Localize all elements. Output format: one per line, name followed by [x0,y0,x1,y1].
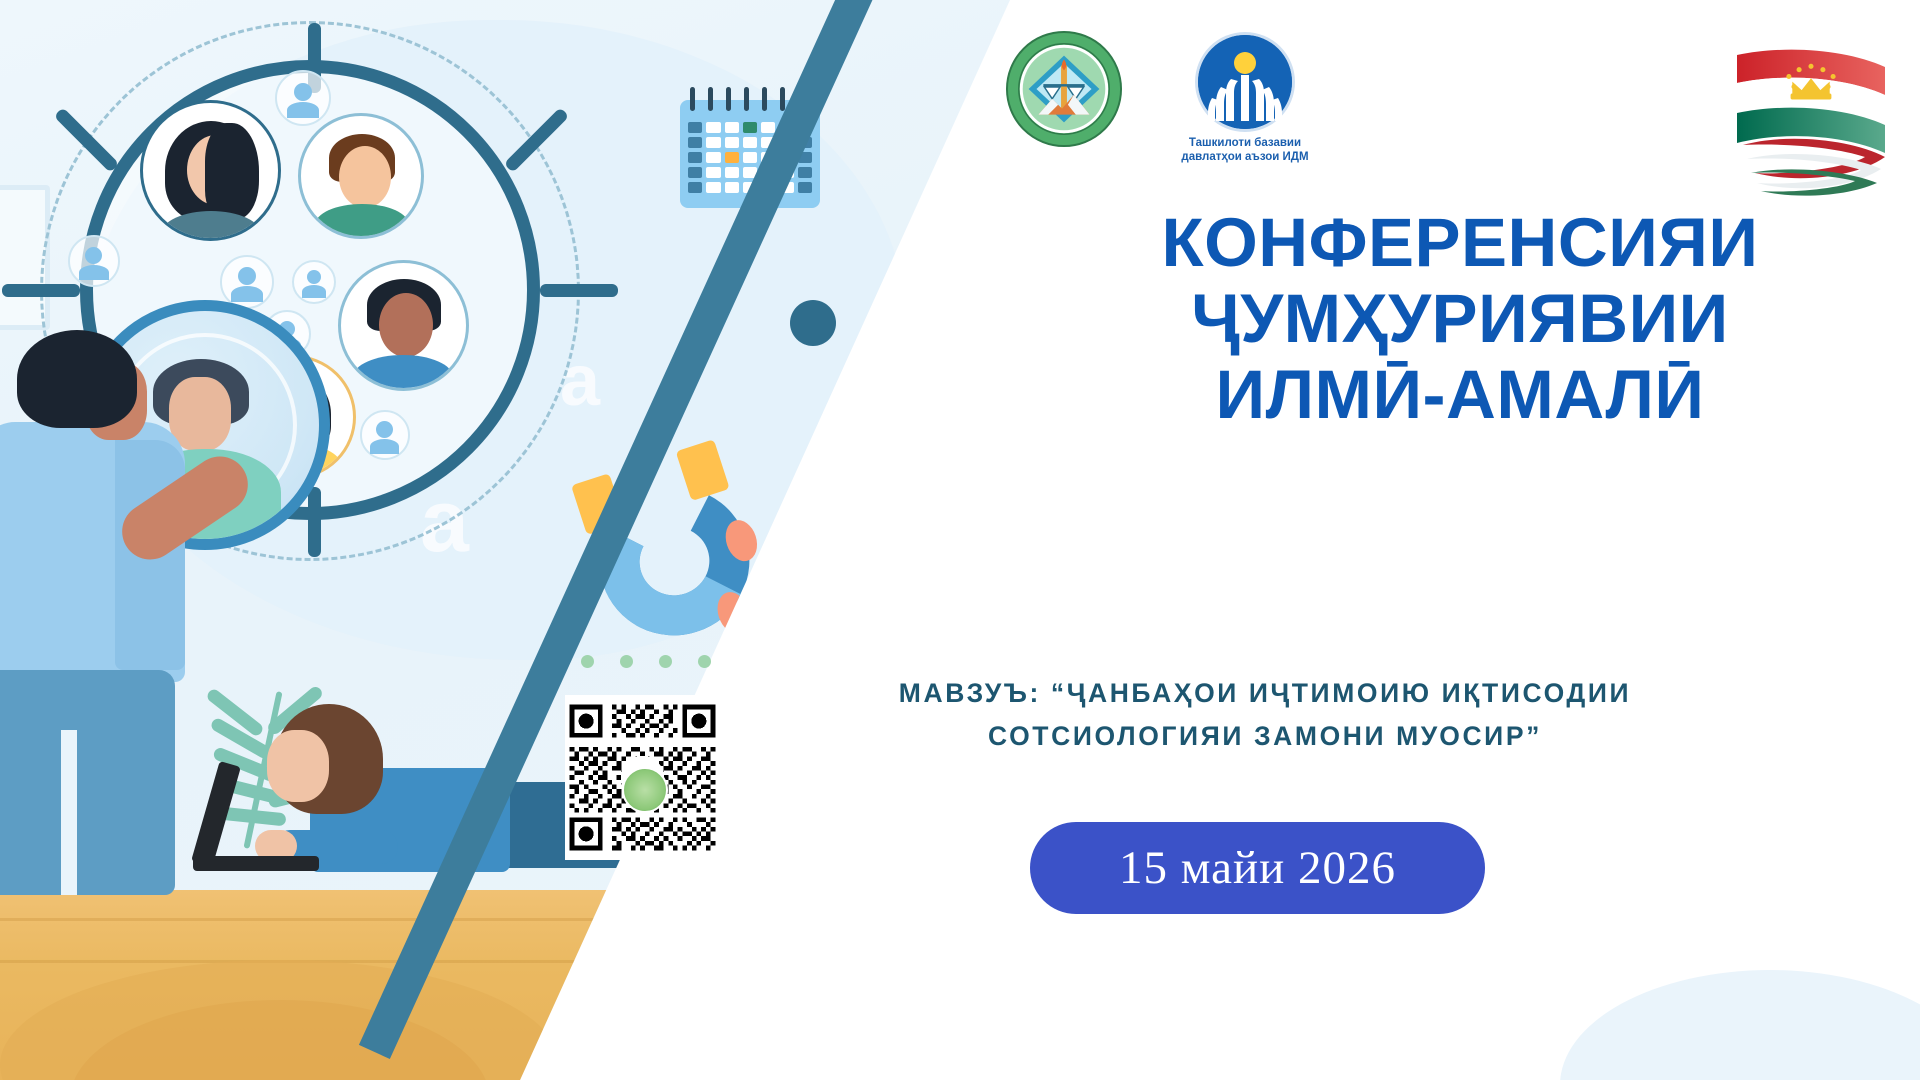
avatar [338,260,469,391]
subtitle-line-1: МАВЗУЪ: “ҶАНБАҲОИ ИҶТИМОИЮ ИҚТИСОДИИ [620,672,1910,715]
subtitle-line-2: СОТСИОЛОГИЯИ ЗАМОНИ МУОСИР” [620,715,1910,758]
divider-node-dot [790,300,836,346]
cis-emblem [1198,35,1292,129]
qr-code-block[interactable] [565,655,725,870]
title-line-2: ҶУМҲУРИЯВИИ [1010,281,1910,357]
date-badge[interactable]: 15 майи 2026 [1030,822,1485,914]
cis-logo: Ташкилоти базавии давлатҳои аъзои ИДМ [1155,35,1335,195]
qr-dot [659,655,672,668]
cis-caption-line2: давлатҳои аъзои ИДМ [1181,150,1308,164]
mini-user-icon [275,70,331,126]
bottom-decorative-arc [1560,970,1920,1080]
qr-dots-row [581,655,711,671]
conference-subtitle: МАВЗУЪ: “ҶАНБАҲОИ ИҶТИМОИЮ ИҚТИСОДИИ СОТ… [620,672,1910,758]
illustration-panel: a a a a [0,0,1010,1080]
conference-poster: a a a a [0,0,1920,1080]
wooden-floor [0,890,720,1080]
cis-caption-line1: Ташкилоти базавии [1181,136,1308,150]
avatar [298,113,424,239]
mini-user-icon [292,260,336,304]
qr-dot [620,655,633,668]
content-panel: Ташкилоти базавии давлатҳои аъзои ИДМ [1010,0,1920,1080]
qr-dot [581,655,594,668]
title-line-3: ИЛМӢ-АМАЛӢ [1010,357,1910,433]
title-line-1: КОНФЕРЕНСИЯИ [1010,205,1910,281]
crosshair-tick [2,284,80,297]
crosshair-tick [540,284,618,297]
university-logo [1005,30,1123,148]
qr-dot [698,655,711,668]
mini-user-icon [68,235,120,287]
qr-center-logo [622,767,668,813]
logo-row: Ташкилоти базавии давлатҳои аъзои ИДМ [1005,25,1525,195]
cis-caption: Ташкилоти базавии давлатҳои аъзои ИДМ [1181,136,1308,165]
avatar [140,100,281,241]
tajikistan-flag-icon [1725,33,1900,198]
date-badge-label: 15 майи 2026 [1119,841,1396,895]
mini-user-icon [360,410,410,460]
conference-title: КОНФЕРЕНСИЯИ ҶУМҲУРИЯВИИ ИЛМӢ-АМАЛӢ [1010,205,1910,433]
